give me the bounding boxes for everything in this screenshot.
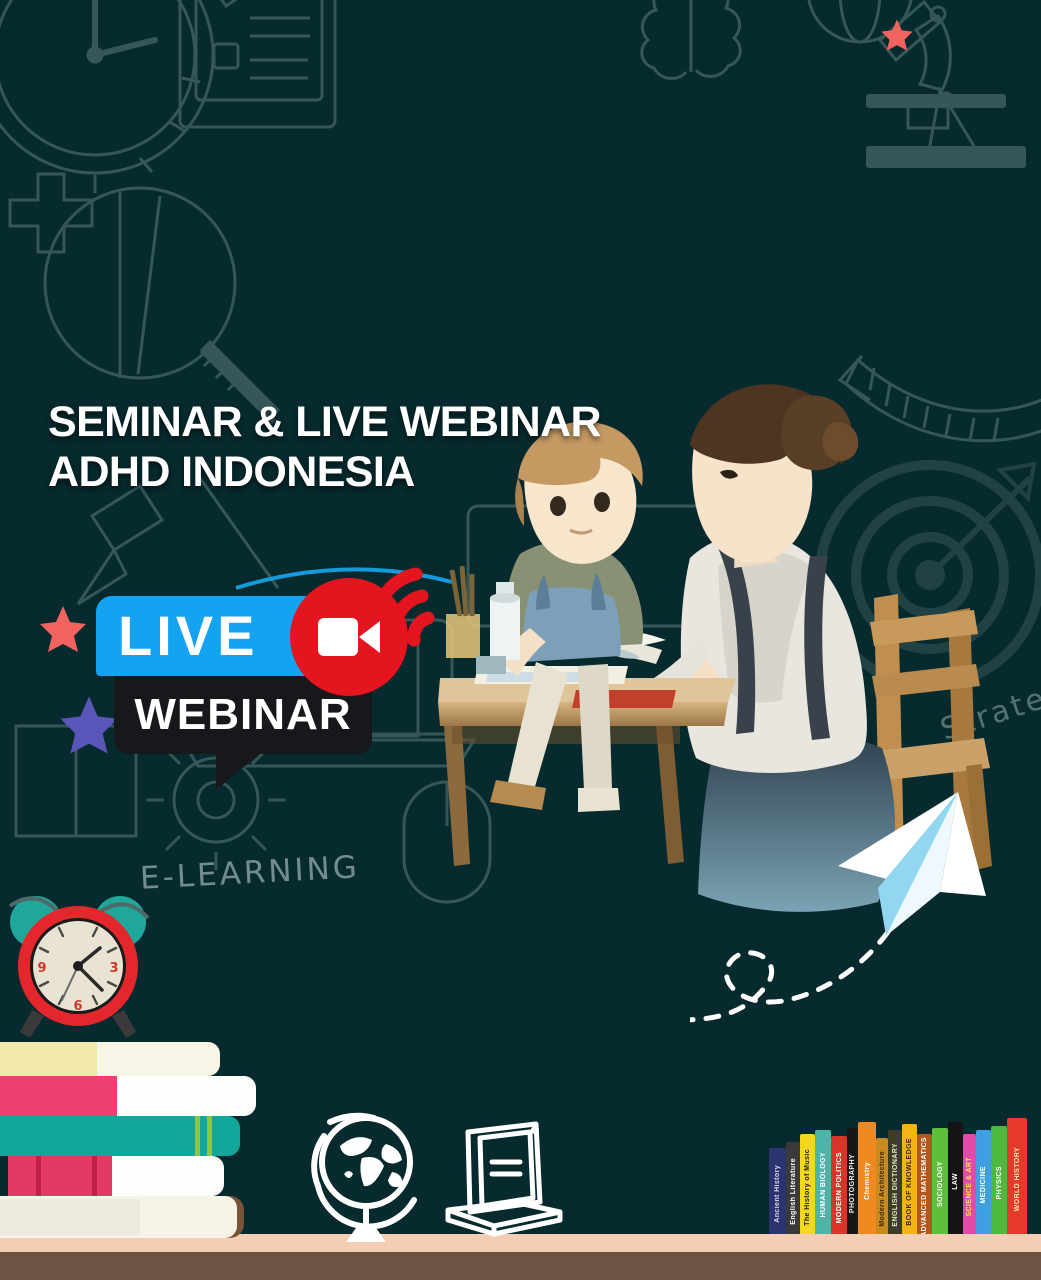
shelf-book: SOCIOLOGY xyxy=(932,1128,948,1234)
shelf-book: PHYSICS xyxy=(991,1126,1007,1234)
star-coral-icon xyxy=(38,604,88,654)
shelf-book: ADVANCED MATHEMATICS xyxy=(917,1134,932,1234)
shelf-front-edge xyxy=(0,1252,1041,1280)
shelf-book-title: The History of Music xyxy=(804,1143,811,1226)
brain-doodle xyxy=(642,0,741,78)
shelf-book: LAW xyxy=(948,1122,963,1234)
chalk-standing-book-icon xyxy=(440,1114,570,1244)
paper-airplane-illustration xyxy=(690,770,1040,1070)
pen-doodle xyxy=(208,0,268,6)
svg-text:12: 12 xyxy=(69,906,87,921)
shelf-book-title: LAW xyxy=(952,1167,959,1190)
shelf-book: ENGLISH DICTIONARY xyxy=(888,1130,902,1234)
magnifier-doodle xyxy=(45,188,275,422)
shelf-book-title: Chemistry xyxy=(864,1156,871,1200)
shelf-book-title: WORLD HISTORY xyxy=(1014,1141,1021,1211)
clock-leg-left xyxy=(20,1010,44,1038)
chalk-text-elearning: E-LEARNING xyxy=(139,849,361,896)
headline-line-2: ADHD INDONESIA xyxy=(48,448,601,498)
clock-leg-right xyxy=(112,1010,136,1038)
book-cream-yellow xyxy=(0,1042,220,1076)
svg-text:9: 9 xyxy=(37,961,46,976)
shelf-book: BOOK OF KNOWLEDGE xyxy=(902,1124,917,1234)
live-webinar-badge[interactable]: WEBINAR LIVE xyxy=(96,556,441,786)
book-teal-green xyxy=(0,1116,240,1156)
shelf-book: Chemistry xyxy=(858,1122,876,1234)
shelf-book-title: BOOK OF KNOWLEDGE xyxy=(906,1132,913,1226)
paper-airplane-icon xyxy=(838,792,986,936)
shelf-book-title: SOCIOLOGY xyxy=(937,1155,944,1207)
shelf-book-title: English Literature xyxy=(790,1152,797,1225)
book-stack xyxy=(0,1034,272,1234)
book-brown-cream xyxy=(0,1196,244,1238)
svg-text:6: 6 xyxy=(73,999,82,1014)
shelf-book-title: Ancient History xyxy=(774,1159,781,1223)
book-pink-white xyxy=(0,1076,256,1116)
clipboard-doodle xyxy=(180,0,335,127)
alarm-clock: 12 3 6 9 xyxy=(4,892,154,1042)
plus-doodle xyxy=(10,174,92,252)
webinar-label: WEBINAR xyxy=(134,693,351,737)
shelf-book-title: HUMAN BIOLOGY xyxy=(820,1146,827,1217)
poster-canvas: SEMINAR & LIVE WEBINAR ADHD INDONESIA E-… xyxy=(0,0,1041,1280)
bookshelf-row: Ancient HistoryEnglish LiteratureThe His… xyxy=(769,1112,1041,1234)
shelf-book-title: ENGLISH DICTIONARY xyxy=(892,1137,899,1227)
shelf-book-title: ADVANCED MATHEMATICS xyxy=(921,1134,928,1234)
shelf-book: Ancient History xyxy=(769,1148,786,1234)
shelf-book-title: SCIENCE & ART xyxy=(966,1151,973,1216)
shelf-book: HUMAN BIOLOGY xyxy=(815,1130,831,1234)
clock-doodle xyxy=(0,0,213,193)
video-camera-button[interactable] xyxy=(290,578,408,696)
chalk-globe-icon xyxy=(300,1102,440,1242)
book-crimson xyxy=(8,1156,224,1196)
badge-speech-tail xyxy=(216,752,262,790)
star-coral-small-icon xyxy=(880,18,914,52)
shelf-book: SCIENCE & ART xyxy=(963,1134,976,1234)
shelf-book-title: Modern Architecture xyxy=(879,1145,886,1227)
shelf-book: WORLD HISTORY xyxy=(1007,1118,1027,1234)
shelf-book: MODERN POLITICS xyxy=(831,1136,847,1234)
shelf-book: The History of Music xyxy=(800,1134,815,1234)
shelf-book: Modern Architecture xyxy=(876,1138,888,1234)
shelf-book-title: PHYSICS xyxy=(996,1160,1003,1200)
live-label: LIVE xyxy=(96,608,258,664)
headline-line-1: SEMINAR & LIVE WEBINAR xyxy=(48,398,601,446)
shelf-book: PHOTOGRAPHY xyxy=(847,1128,858,1234)
shelf-book-title: MEDICINE xyxy=(980,1160,987,1203)
shelf-book-title: PHOTOGRAPHY xyxy=(849,1148,856,1213)
svg-text:3: 3 xyxy=(109,961,118,976)
shelf-book-title: MODERN POLITICS xyxy=(836,1146,843,1223)
page-title: SEMINAR & LIVE WEBINAR ADHD INDONESIA xyxy=(48,398,601,498)
shelf-book: English Literature xyxy=(786,1142,800,1234)
shelf-book: MEDICINE xyxy=(976,1130,991,1234)
video-camera-icon xyxy=(318,618,380,656)
